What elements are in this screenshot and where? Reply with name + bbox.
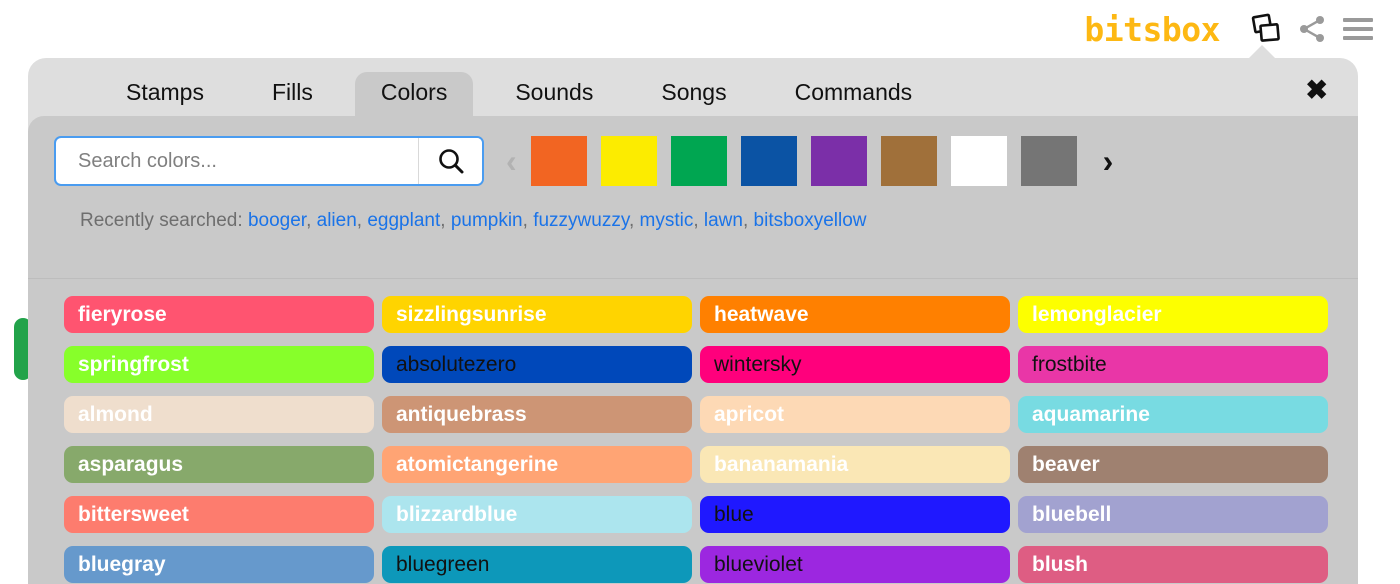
color-chip[interactable]: antiquebrass [382, 396, 692, 433]
color-chip[interactable]: sizzlingsunrise [382, 296, 692, 333]
swatch-strip [531, 136, 1077, 186]
color-chip[interactable]: almond [64, 396, 374, 433]
recent-term-booger[interactable]: booger [248, 210, 306, 231]
swatch-blue[interactable] [741, 136, 797, 186]
color-chip[interactable]: blush [1018, 546, 1328, 583]
search-button[interactable] [418, 138, 482, 184]
swatch-orange[interactable] [531, 136, 587, 186]
hamburger-icon-glyph [1343, 18, 1373, 40]
search-box [54, 136, 484, 186]
color-chip[interactable]: bittersweet [64, 496, 374, 533]
color-chip[interactable]: bluegreen [382, 546, 692, 583]
color-list-area: fieryrosesizzlingsunriseheatwavelemongla… [28, 279, 1358, 584]
recent-term-pumpkin[interactable]: pumpkin [451, 210, 523, 231]
color-chip[interactable]: absolutezero [382, 346, 692, 383]
section-divider [28, 278, 1358, 279]
search-input[interactable] [56, 138, 418, 184]
tab-bar: StampsFillsColorsSoundsSongsCommands✖ [28, 58, 1358, 116]
bitsbox-logo: bitsbox [1084, 10, 1220, 49]
color-chip[interactable]: aquamarine [1018, 396, 1328, 433]
color-chip[interactable]: fieryrose [64, 296, 374, 333]
swatch-purple[interactable] [811, 136, 867, 186]
recently-searched: Recently searched: booger, alien, eggpla… [28, 186, 1358, 232]
color-grid: fieryrosesizzlingsunriseheatwavelemongla… [64, 296, 1328, 583]
search-row: ‹ › [28, 136, 1358, 186]
copy-icon-glyph [1249, 12, 1283, 46]
search-area: ‹ › Recently searched: booger, alien, eg… [28, 116, 1358, 279]
share-icon-glyph [1296, 13, 1328, 45]
share-icon[interactable] [1292, 9, 1332, 49]
tab-sounds[interactable]: Sounds [489, 72, 619, 116]
color-chip[interactable]: wintersky [700, 346, 1010, 383]
tab-commands[interactable]: Commands [769, 72, 939, 116]
color-chip[interactable]: lemonglacier [1018, 296, 1328, 333]
swatch-yellow[interactable] [601, 136, 657, 186]
toolbox-panel: StampsFillsColorsSoundsSongsCommands✖ ‹ … [28, 58, 1358, 584]
close-panel-button[interactable]: ✖ [1305, 77, 1328, 104]
recent-term-mystic[interactable]: mystic [640, 210, 694, 231]
tab-stamps[interactable]: Stamps [100, 72, 230, 116]
color-chip[interactable]: blue [700, 496, 1010, 533]
swatch-prev-button[interactable]: ‹ [506, 145, 517, 177]
copy-icon[interactable] [1246, 9, 1286, 49]
recent-term-eggplant[interactable]: eggplant [367, 210, 440, 231]
menu-icon[interactable] [1338, 9, 1378, 49]
color-chip[interactable]: apricot [700, 396, 1010, 433]
color-chip[interactable]: bluegray [64, 546, 374, 583]
recent-term-lawn[interactable]: lawn [704, 210, 743, 231]
color-chip[interactable]: blueviolet [700, 546, 1010, 583]
recently-searched-label: Recently searched: [80, 210, 243, 231]
swatch-next-button[interactable]: › [1103, 145, 1114, 177]
swatch-green[interactable] [671, 136, 727, 186]
tab-fills[interactable]: Fills [246, 72, 339, 116]
recently-searched-terms: booger, alien, eggplant, pumpkin, fuzzyw… [248, 210, 867, 231]
color-chip[interactable]: blizzardblue [382, 496, 692, 533]
color-chip[interactable]: frostbite [1018, 346, 1328, 383]
recent-term-bitsboxyellow[interactable]: bitsboxyellow [754, 210, 867, 231]
search-icon [436, 146, 466, 176]
recent-term-fuzzywuzzy[interactable]: fuzzywuzzy [533, 210, 629, 231]
color-chip[interactable]: beaver [1018, 446, 1328, 483]
color-chip[interactable]: heatwave [700, 296, 1010, 333]
top-bar: bitsbox [0, 0, 1400, 58]
swatch-white[interactable] [951, 136, 1007, 186]
color-chip[interactable]: bluebell [1018, 496, 1328, 533]
swatch-gray[interactable] [1021, 136, 1077, 186]
tab-colors[interactable]: Colors [355, 72, 473, 116]
tab-songs[interactable]: Songs [635, 72, 752, 116]
color-chip[interactable]: asparagus [64, 446, 374, 483]
color-chip[interactable]: springfrost [64, 346, 374, 383]
recent-term-alien[interactable]: alien [317, 210, 357, 231]
swatch-brown[interactable] [881, 136, 937, 186]
panel-pointer-notch [1248, 45, 1276, 59]
color-chip[interactable]: atomictangerine [382, 446, 692, 483]
color-chip[interactable]: bananamania [700, 446, 1010, 483]
